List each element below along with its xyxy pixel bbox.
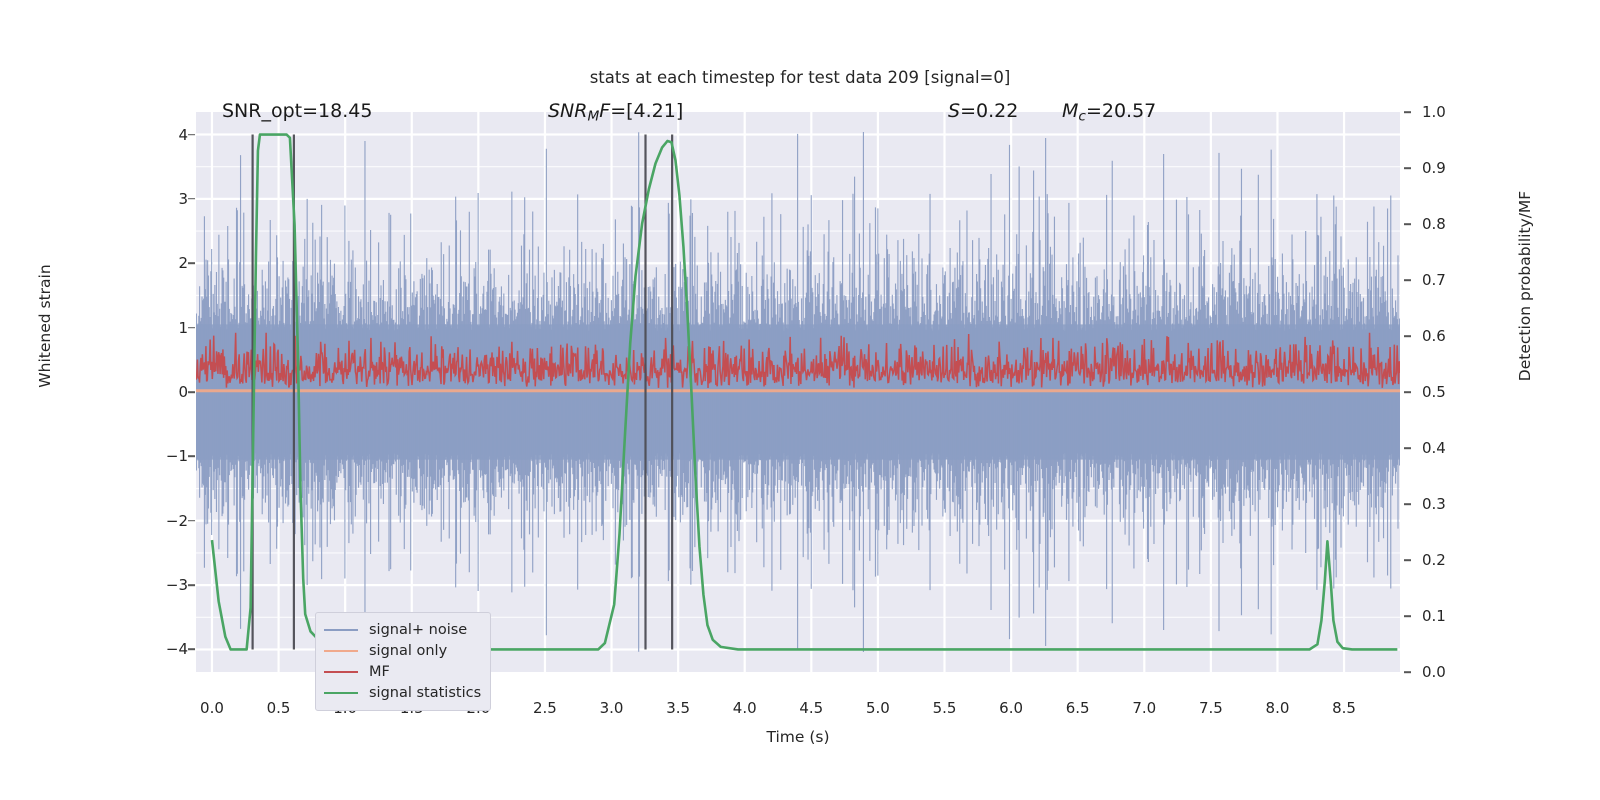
annotation-snr-mf: SNRMF=[4.21]: [548, 100, 683, 124]
matplotlib-figure: stats at each timestep for test data 209…: [0, 0, 1600, 800]
y-axis-label-left: Whitened strain: [36, 196, 54, 456]
y-tick-mark-left: [188, 520, 195, 522]
x-tick-label: 6.5: [1048, 699, 1108, 717]
plot-area: [196, 112, 1400, 672]
y-tick-mark-right: [1404, 335, 1411, 337]
y-tick-mark-left: [188, 391, 195, 393]
x-tick-label: 4.5: [781, 699, 841, 717]
y-tick-label-left: −4: [128, 640, 188, 658]
x-tick-label: 5.5: [915, 699, 975, 717]
x-tick-label: 0.5: [249, 699, 309, 717]
y-tick-label-right: 0.1: [1422, 607, 1492, 625]
y-tick-mark-left: [188, 584, 195, 586]
annotation-chirp-mass: Mc=20.57: [1062, 100, 1156, 124]
x-tick-label: 7.5: [1181, 699, 1241, 717]
y-tick-mark-right: [1404, 167, 1411, 169]
y-tick-label-left: 4: [128, 126, 188, 144]
legend-label: signal only: [369, 643, 447, 659]
y-tick-mark-left: [188, 327, 195, 329]
y-tick-mark-right: [1404, 671, 1411, 673]
plot-canvas: [196, 112, 1400, 672]
legend-label: signal statistics: [369, 685, 481, 701]
y-tick-label-right: 0.6: [1422, 327, 1492, 345]
x-tick-label: 5.0: [848, 699, 908, 717]
legend-item[interactable]: signal+ noise: [324, 619, 482, 640]
page-title: stats at each timestep for test data 209…: [0, 68, 1600, 87]
annotation-s-stat: S=0.22: [948, 100, 1018, 122]
y-tick-label-right: 0.2: [1422, 551, 1492, 569]
x-tick-label: 0.0: [182, 699, 242, 717]
legend-color-swatch: [324, 671, 358, 673]
legend-item[interactable]: signal statistics: [324, 682, 482, 703]
y-tick-mark-right: [1404, 503, 1411, 505]
x-tick-label: 8.0: [1247, 699, 1307, 717]
y-tick-label-right: 1.0: [1422, 103, 1492, 121]
y-tick-label-right: 0.5: [1422, 383, 1492, 401]
y-tick-mark-right: [1404, 279, 1411, 281]
y-tick-mark-left: [188, 198, 195, 200]
y-tick-label-left: 3: [128, 190, 188, 208]
y-tick-mark-right: [1404, 223, 1411, 225]
y-tick-label-left: 1: [128, 319, 188, 337]
y-tick-label-left: −2: [128, 512, 188, 530]
x-tick-label: 4.0: [715, 699, 775, 717]
x-axis-label: Time (s): [196, 728, 1400, 746]
x-tick-label: 8.5: [1314, 699, 1374, 717]
y-tick-label-right: 0.4: [1422, 439, 1492, 457]
legend-color-swatch: [324, 629, 358, 631]
y-axis-label-right: Detection probability/MF: [1516, 156, 1534, 416]
y-tick-mark-left: [188, 456, 195, 458]
y-tick-mark-right: [1404, 111, 1411, 113]
legend-label: signal+ noise: [369, 622, 467, 638]
y-tick-label-left: 2: [128, 254, 188, 272]
y-tick-mark-left: [188, 649, 195, 651]
y-tick-label-left: −1: [128, 447, 188, 465]
x-tick-label: 7.0: [1114, 699, 1174, 717]
y-tick-label-right: 0.0: [1422, 663, 1492, 681]
legend-color-swatch: [324, 692, 358, 694]
y-tick-label-right: 0.8: [1422, 215, 1492, 233]
y-tick-mark-right: [1404, 391, 1411, 393]
annotation-snr-opt: SNR_opt=18.45: [222, 100, 372, 122]
x-tick-label: 6.0: [981, 699, 1041, 717]
y-tick-label-right: 0.7: [1422, 271, 1492, 289]
legend-color-swatch: [324, 650, 358, 652]
y-tick-label-left: 0: [128, 383, 188, 401]
y-tick-mark-right: [1404, 615, 1411, 617]
y-tick-mark-left: [188, 262, 195, 264]
y-tick-mark-right: [1404, 447, 1411, 449]
y-tick-label-right: 0.3: [1422, 495, 1492, 513]
legend-item[interactable]: signal only: [324, 640, 482, 661]
legend-item[interactable]: MF: [324, 661, 482, 682]
y-tick-mark-left: [188, 134, 195, 136]
y-tick-label-left: −3: [128, 576, 188, 594]
legend[interactable]: signal+ noisesignal onlyMFsignal statist…: [315, 612, 491, 711]
x-tick-label: 2.5: [515, 699, 575, 717]
x-tick-label: 3.5: [648, 699, 708, 717]
y-tick-mark-right: [1404, 559, 1411, 561]
y-tick-label-right: 0.9: [1422, 159, 1492, 177]
x-tick-label: 3.0: [582, 699, 642, 717]
legend-label: MF: [369, 664, 390, 680]
